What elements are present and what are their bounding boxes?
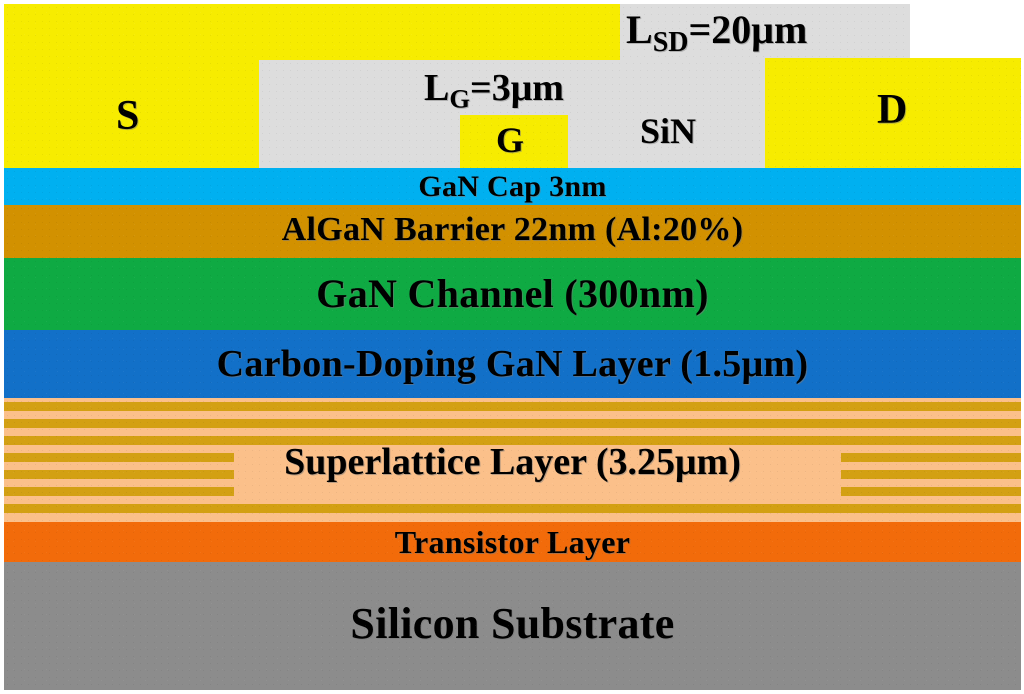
superlattice-stripe	[4, 402, 1021, 411]
layer-gan-channel-label: GaN Channel (300nm)	[4, 270, 1021, 317]
layer-superlattice-label: Superlattice Layer (3.25μm)	[4, 440, 1021, 484]
sin-passivation-annotation: SiN	[640, 110, 696, 152]
layer-transistor-label: Transistor Layer	[4, 524, 1021, 561]
lsd-symbol: L	[626, 7, 653, 52]
superlattice-stripe	[4, 419, 1021, 428]
layer-carbon-doping-gan-label: Carbon-Doping GaN Layer (1.5μm)	[4, 342, 1021, 386]
gate-electrode[interactable]: G	[460, 115, 568, 168]
layer-transistor: Transistor Layer	[4, 522, 1021, 562]
layer-superlattice: Superlattice Layer (3.25μm)	[4, 398, 1021, 522]
layer-gan-cap: GaN Cap 3nm	[4, 168, 1021, 205]
gate-length-annotation: LG=3μm	[424, 66, 564, 114]
layer-silicon-substrate: Silicon Substrate	[4, 562, 1021, 690]
device-cross-section-figure: S G D LSD=20μm LG=3μm SiN GaN Cap 3nm Al…	[0, 0, 1024, 694]
drain-electrode-label: D	[877, 86, 907, 134]
lsd-value: =20μm	[688, 7, 807, 52]
layer-gan-channel: GaN Channel (300nm)	[4, 258, 1021, 330]
layer-algan-barrier-label: AlGaN Barrier 22nm (Al:20%)	[4, 211, 1021, 249]
gate-electrode-label: G	[496, 119, 524, 161]
layer-gan-cap-label: GaN Cap 3nm	[4, 170, 1021, 204]
lg-value: =3μm	[470, 67, 564, 109]
source-electrode[interactable]: S	[4, 4, 259, 168]
superlattice-stripe	[4, 504, 1021, 513]
layer-carbon-doping-gan: Carbon-Doping GaN Layer (1.5μm)	[4, 330, 1021, 398]
layer-silicon-substrate-label: Silicon Substrate	[4, 598, 1021, 649]
superlattice-stripe	[4, 487, 1021, 496]
source-field-plate[interactable]	[259, 4, 620, 60]
lg-subscript: G	[449, 83, 470, 113]
layer-algan-barrier: AlGaN Barrier 22nm (Al:20%)	[4, 205, 1021, 258]
source-electrode-label: S	[116, 92, 139, 140]
lg-symbol: L	[424, 67, 449, 109]
drain-electrode[interactable]: D	[765, 58, 1021, 168]
source-drain-spacing-annotation: LSD=20μm	[626, 6, 807, 59]
lsd-subscript: SD	[653, 27, 689, 58]
